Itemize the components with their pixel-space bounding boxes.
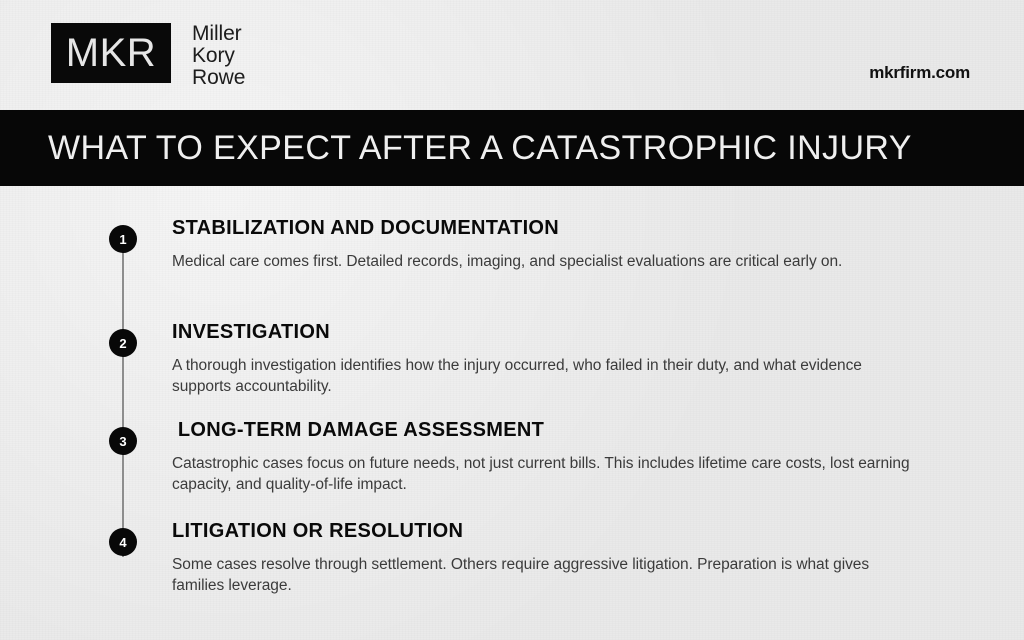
brand-logo[interactable]: MKR Miller Kory Rowe bbox=[52, 24, 245, 89]
timeline-section: 1 STABILIZATION AND DOCUMENTATION Medica… bbox=[0, 186, 1024, 640]
step-body: LONG-TERM DAMAGE ASSESSMENT Catastrophic… bbox=[172, 419, 1024, 495]
site-url-text[interactable]: mkrfirm.com bbox=[869, 63, 970, 83]
title-banner: WHAT TO EXPECT AFTER A CATASTROPHIC INJU… bbox=[0, 110, 1024, 186]
step-number-badge: 4 bbox=[109, 528, 137, 556]
timeline-step: 4 LITIGATION OR RESOLUTION Some cases re… bbox=[0, 520, 1024, 596]
logo-mark-text: MKR bbox=[66, 33, 156, 73]
step-body: LITIGATION OR RESOLUTION Some cases reso… bbox=[172, 520, 1024, 596]
logo-word-line-2: Kory bbox=[192, 45, 245, 67]
step-description: A thorough investigation identifies how … bbox=[172, 355, 917, 397]
step-heading: INVESTIGATION bbox=[172, 321, 934, 344]
timeline-connector-line bbox=[122, 239, 124, 557]
step-description: Catastrophic cases focus on future needs… bbox=[172, 453, 917, 495]
timeline-step: 2 INVESTIGATION A thorough investigation… bbox=[0, 321, 1024, 397]
page-header: MKR Miller Kory Rowe mkrfirm.com bbox=[0, 0, 1024, 110]
step-number-badge: 2 bbox=[109, 329, 137, 357]
step-heading: LONG-TERM DAMAGE ASSESSMENT bbox=[172, 419, 934, 442]
logo-wordmark: Miller Kory Rowe bbox=[192, 23, 245, 89]
page-title: WHAT TO EXPECT AFTER A CATASTROPHIC INJU… bbox=[48, 129, 912, 168]
step-body: INVESTIGATION A thorough investigation i… bbox=[172, 321, 1024, 397]
step-description: Medical care comes first. Detailed recor… bbox=[172, 251, 917, 272]
timeline-step: 1 STABILIZATION AND DOCUMENTATION Medica… bbox=[0, 217, 1024, 272]
logo-mark-box: MKR bbox=[52, 24, 170, 82]
step-body: STABILIZATION AND DOCUMENTATION Medical … bbox=[172, 217, 1024, 272]
step-number-badge: 1 bbox=[109, 225, 137, 253]
timeline-step: 3 LONG-TERM DAMAGE ASSESSMENT Catastroph… bbox=[0, 419, 1024, 495]
step-heading: LITIGATION OR RESOLUTION bbox=[172, 520, 934, 543]
step-description: Some cases resolve through settlement. O… bbox=[172, 554, 917, 596]
logo-word-line-3: Rowe bbox=[192, 67, 245, 89]
step-heading: STABILIZATION AND DOCUMENTATION bbox=[172, 217, 934, 240]
step-number-badge: 3 bbox=[109, 427, 137, 455]
logo-word-line-1: Miller bbox=[192, 23, 245, 45]
